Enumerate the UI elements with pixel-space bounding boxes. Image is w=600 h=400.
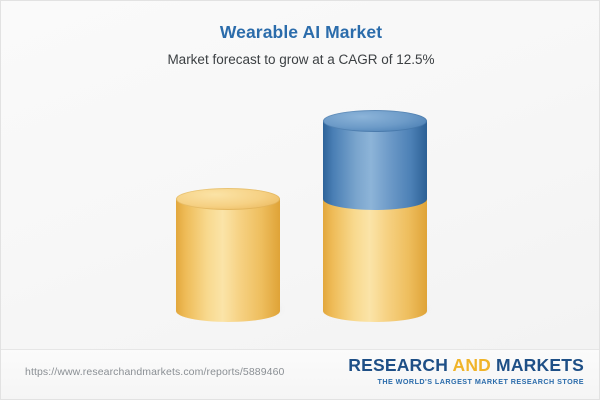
- brand-tagline: THE WORLD'S LARGEST MARKET RESEARCH STOR…: [348, 377, 584, 386]
- cylinder-top-cap-2030: [323, 110, 427, 132]
- chart-plot-area: USD 36.38 Billion 2025 USD 65.8 Billion: [1, 1, 600, 349]
- cylinder-top-cap-2025: [176, 188, 280, 210]
- brand-word-and: AND: [452, 355, 491, 375]
- brand-word-markets: MARKETS: [491, 355, 584, 375]
- cylinder-body-lower-2030: [323, 199, 427, 311]
- brand-wordmark: RESEARCH AND MARKETS: [348, 356, 584, 375]
- brand-word-research: RESEARCH: [348, 355, 452, 375]
- cylinder-body-upper-2030: [323, 121, 427, 199]
- bar-segment-base-2025: [176, 199, 280, 311]
- bar-segment-growth-2030: [323, 121, 427, 199]
- bar-cylinder-2025[interactable]: [176, 199, 280, 311]
- bar-cylinder-2030[interactable]: [323, 121, 427, 311]
- bar-segment-base-2030: [323, 199, 427, 311]
- footer: https://www.researchandmarkets.com/repor…: [1, 350, 600, 399]
- cylinder-body-2025: [176, 199, 280, 311]
- chart-card: Wearable AI Market Market forecast to gr…: [0, 0, 600, 400]
- report-url-link[interactable]: https://www.researchandmarkets.com/repor…: [25, 366, 284, 378]
- brand-logo[interactable]: RESEARCH AND MARKETS THE WORLD'S LARGEST…: [348, 356, 584, 386]
